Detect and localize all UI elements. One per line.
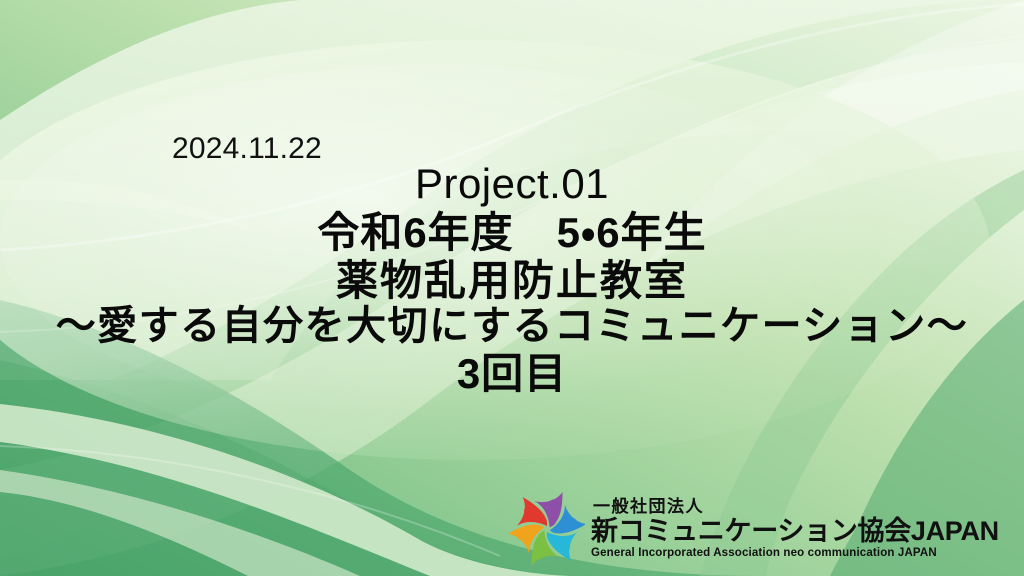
logo-org-name-ja: 新コミュニケーション協会JAPAN (591, 516, 999, 546)
organization-logo: 一般社団法人 新コミュニケーション協会JAPAN General Incorpo… (509, 489, 939, 569)
presentation-slide: 2024.11.22 Project.01 令和6年度 5・6年生 薬物乱用防止… (0, 0, 1024, 576)
logo-org-type: 一般社団法人 (591, 497, 999, 517)
title-line-session: 3回目 (0, 350, 1024, 397)
pinwheel-people-logo-icon (509, 491, 585, 567)
logo-text-block: 一般社団法人 新コミュニケーション協会JAPAN General Incorpo… (591, 497, 999, 562)
title-line-tagline: 〜愛する自分を大切にするコミュニケーション〜 (0, 304, 1024, 349)
logo-org-name-en: General Incorporated Association neo com… (591, 547, 999, 561)
title-line-grade: 令和6年度 5・6年生 (0, 209, 1024, 256)
slide-title-block: Project.01 令和6年度 5・6年生 薬物乱用防止教室 〜愛する自分を大… (0, 160, 1024, 397)
title-line-subject: 薬物乱用防止教室 (0, 257, 1024, 304)
title-line-project: Project.01 (0, 160, 1024, 209)
